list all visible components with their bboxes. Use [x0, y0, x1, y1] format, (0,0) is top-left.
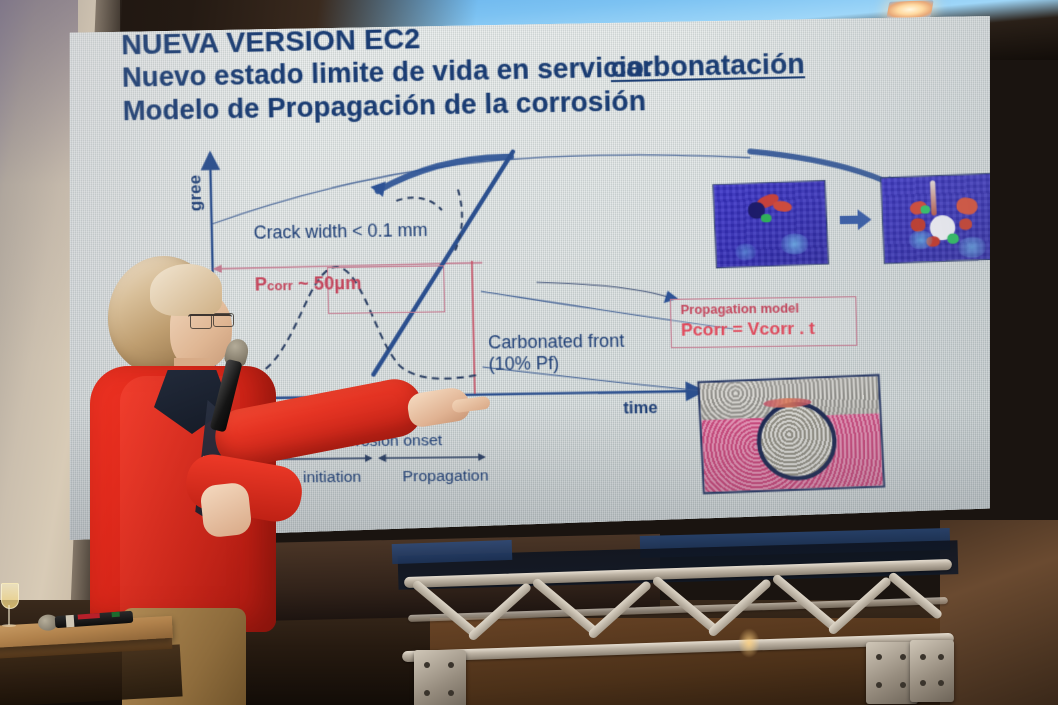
truss-light-glow: [738, 628, 760, 658]
presenter-hair-front: [150, 264, 222, 316]
scene-root: NUEVA VERSION EC2 Nuevo estado limite de…: [0, 0, 1058, 705]
truss-end-plate-left: [414, 650, 466, 705]
spare-mic-ring: [66, 615, 75, 628]
glass-base: [2, 624, 16, 627]
spare-mic-green-band: [112, 612, 120, 618]
truss-blue-bar: [392, 540, 513, 564]
wine-glass-icon: [0, 583, 18, 631]
stage-truss: [398, 556, 958, 705]
truss-diagonal: [531, 577, 598, 635]
glasses-bridge: [188, 314, 232, 329]
glass-bowl: [1, 583, 19, 609]
microphone-hand: [199, 482, 252, 539]
truss-diagonal: [887, 571, 943, 620]
glass-stem: [8, 605, 10, 625]
truss-end-plate-far-right: [910, 640, 954, 702]
